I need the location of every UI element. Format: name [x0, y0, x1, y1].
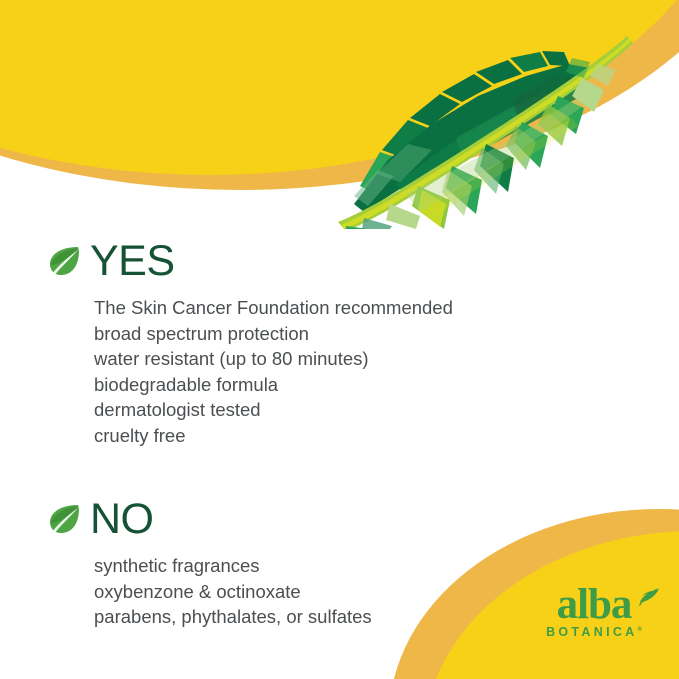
list-item: broad spectrum protection: [94, 321, 453, 347]
alba-botanica-logo: alba BOTANICA®: [534, 584, 654, 639]
leaf-icon: [48, 244, 82, 278]
bottom-right-yellow-blob: [379, 479, 679, 679]
list-item: synthetic fragrances: [94, 553, 372, 579]
section-yes: YES The Skin Cancer Foundation recommend…: [48, 238, 453, 448]
section-yes-heading: YES: [90, 240, 175, 283]
registered-trademark-icon: ®: [638, 627, 642, 633]
logo-wordmark: alba: [557, 581, 632, 628]
list-item: dermatologist tested: [94, 397, 453, 423]
section-no: NO synthetic fragrances oxybenzone & oct…: [48, 496, 372, 630]
list-item: oxybenzone & octinoxate: [94, 579, 372, 605]
list-item: water resistant (up to 80 minutes): [94, 346, 453, 372]
marketing-graphic-canvas: YES The Skin Cancer Foundation recommend…: [0, 0, 679, 679]
logo-wordmark-row: alba: [534, 584, 654, 626]
section-no-list: synthetic fragrances oxybenzone & octino…: [94, 553, 372, 630]
section-yes-heading-row: YES: [48, 238, 453, 284]
list-item: cruelty free: [94, 423, 453, 449]
leaf-sprig-icon: [638, 586, 660, 606]
list-item: The Skin Cancer Foundation recommended: [94, 295, 453, 321]
tropical-banana-leaf-illustration: [336, 34, 636, 229]
section-yes-list: The Skin Cancer Foundation recommended b…: [94, 295, 453, 448]
section-no-heading-row: NO: [48, 496, 372, 542]
list-item: parabens, phythalates, or sulfates: [94, 604, 372, 630]
section-no-heading: NO: [90, 498, 154, 541]
list-item: biodegradable formula: [94, 372, 453, 398]
leaf-icon: [48, 502, 82, 536]
